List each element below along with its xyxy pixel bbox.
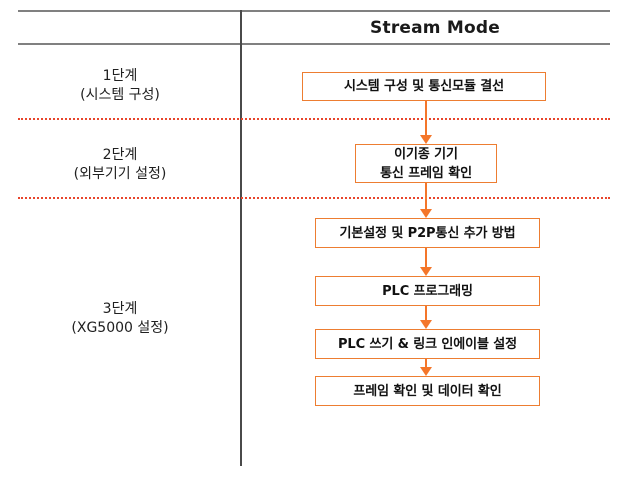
arrow-shaft [425,306,427,320]
column-divider [240,10,242,466]
arrow-head [420,267,432,276]
stage-label-3: 3단계 (XG5000 설정) [0,300,240,338]
arrow-down-icon-1 [420,101,432,144]
stage-separator-1 [18,118,610,120]
arrow-shaft [425,183,427,209]
arrow-head [420,209,432,218]
arrow-head [420,135,432,144]
flow-box-plc-programming[interactable]: PLC 프로그래밍 [315,276,540,306]
stage-label-2: 2단계 (외부기기 설정) [0,146,240,184]
arrow-head [420,367,432,376]
flow-box-plc-write-link-enable[interactable]: PLC 쓰기 & 링크 인에이블 설정 [315,329,540,359]
arrow-head [420,320,432,329]
arrow-down-icon-4 [420,306,432,329]
arrow-shaft [425,101,427,135]
stage-separator-2 [18,197,610,199]
table-top-rule [18,10,610,12]
flow-box-frame-data-verify[interactable]: 프레임 확인 및 데이터 확인 [315,376,540,406]
flowchart-page: Stream Mode 1단계 (시스템 구성) 2단계 (외부기기 설정) 3… [0,0,628,484]
stage-label-1: 1단계 (시스템 구성) [0,67,240,105]
arrow-down-icon-5 [420,359,432,376]
flow-box-p2p-setup[interactable]: 기본설정 및 P2P통신 추가 방법 [315,218,540,248]
table-header-rule [18,43,610,45]
page-title: Stream Mode [242,17,628,39]
arrow-shaft [425,248,427,267]
flow-box-frame-check[interactable]: 이기종 기기 통신 프레임 확인 [355,144,497,183]
arrow-down-icon-2 [420,183,432,218]
flow-box-system-config[interactable]: 시스템 구성 및 통신모듈 결선 [302,72,546,101]
arrow-shaft [425,359,427,367]
arrow-down-icon-3 [420,248,432,276]
